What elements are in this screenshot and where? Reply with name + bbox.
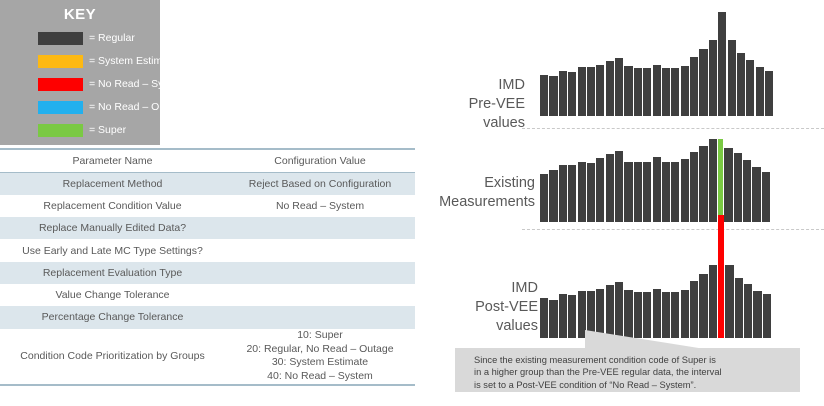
key-swatch-no-read-outage [38,101,83,114]
key-label-regular: = Regular [89,32,135,45]
bar [699,274,707,338]
bar [559,71,567,116]
bar [718,215,724,338]
bar [587,163,595,222]
parameter-table: Parameter Name Configuration Value Repla… [0,148,415,386]
bar [549,300,557,338]
bar [753,291,761,338]
key-label-no-read-outage: = No Read – Outage [89,101,186,114]
bar [728,40,736,116]
bar [744,284,752,338]
chart-pre-vee: IMD Pre-VEE values [430,8,824,130]
column-header-configuration-value: Configuration Value [225,149,415,173]
bar [587,67,595,116]
bar [568,72,576,116]
table-row: Percentage Change Tolerance [0,306,415,328]
key-title: KEY [0,0,160,23]
bar [606,154,614,222]
chart-post-vee: IMD Post-VEE values [430,234,824,344]
cell-configuration-value: No Read – System [225,195,415,217]
table-row: Replacement MethodReject Based on Config… [0,173,415,195]
bar [752,167,760,222]
column-header-parameter-name: Parameter Name [0,149,225,173]
bar [762,172,770,222]
cell-parameter-name: Replacement Method [0,173,225,195]
bar [718,139,723,222]
bar [596,158,604,222]
cell-configuration-value [225,284,415,306]
bar [746,60,754,116]
key-row-system-estimated: = System Estimated [0,52,160,71]
bar [568,295,576,338]
key-row-no-read-outage: = No Read – Outage [0,98,160,117]
bar [540,75,548,116]
bar [735,278,743,338]
bar [615,58,623,116]
bar [690,57,698,116]
bar [634,162,642,222]
bar [709,40,717,116]
baseline-dashed-pre-vee [522,128,824,129]
bar [653,65,661,116]
bar [549,76,557,116]
bar [549,170,557,222]
bar [540,174,548,222]
bar [578,67,586,116]
bar [756,67,764,116]
bar [709,139,717,222]
cell-configuration-value: 10: Super 20: Regular, No Read – Outage … [225,329,415,385]
key-row-super: = Super [0,121,160,140]
bar [615,151,623,222]
slide-root: KEY = Regular= System Estimated= No Read… [0,0,824,406]
bar [724,148,732,222]
bar [699,49,707,116]
table-row: Use Early and Late MC Type Settings? [0,239,415,261]
bar [763,294,771,338]
cell-parameter-name: Percentage Change Tolerance [0,306,225,328]
cell-configuration-value: Reject Based on Configuration [225,173,415,195]
callout-text: Since the existing measurement condition… [455,348,800,391]
key-row-regular: = Regular [0,29,160,48]
bar [624,162,632,222]
chart-existing-measurements: Existing Measurements [430,136,824,232]
cell-configuration-value [225,239,415,261]
cell-parameter-name: Replacement Evaluation Type [0,262,225,284]
cell-configuration-value [225,306,415,328]
bar [690,152,698,222]
table-row: Value Change Tolerance [0,284,415,306]
bar [743,160,751,222]
cell-parameter-name: Condition Code Prioritization by Groups [0,329,225,385]
bar [725,265,733,338]
cell-parameter-name: Use Early and Late MC Type Settings? [0,239,225,261]
bar [653,157,661,222]
bar [606,61,614,116]
cell-configuration-value [225,217,415,239]
cell-parameter-name: Replace Manually Edited Data? [0,217,225,239]
key-row-no-read-system: = No Read – System [0,75,160,94]
key-label-super: = Super [89,124,126,137]
bar [662,162,670,222]
table-row: Replacement Evaluation Type [0,262,415,284]
bar [643,162,651,222]
bar [662,68,670,116]
bars-post-vee [540,234,824,338]
table-header-row: Parameter Name Configuration Value [0,149,415,173]
key-label-system-estimated: = System Estimated [89,55,183,68]
cell-configuration-value [225,262,415,284]
bar [578,162,586,222]
bar [671,68,679,116]
bar [765,71,773,116]
bar [709,265,717,338]
bar [643,68,651,116]
bar [624,66,632,116]
bars-pre-vee [540,8,824,116]
key-swatch-regular [38,32,83,45]
key-swatch-system-estimated [38,55,83,68]
bar [671,162,679,222]
table-body: Replacement MethodReject Based on Config… [0,173,415,385]
callout-pointer [585,330,705,349]
chart-label-existing: Existing Measurements [430,174,535,212]
bar [737,53,745,116]
bar [559,294,567,338]
key-rows: = Regular= System Estimated= No Read – S… [0,29,160,140]
key-swatch-super [38,124,83,137]
table-row: Replacement Condition ValueNo Read – Sys… [0,195,415,217]
table-head: Parameter Name Configuration Value [0,149,415,173]
chart-label-pre-vee: IMD Pre-VEE values [430,76,525,133]
table-row: Replace Manually Edited Data? [0,217,415,239]
bar [699,146,707,222]
bar [681,66,689,116]
bar [559,165,567,222]
bar [596,65,604,116]
callout-box: Since the existing measurement condition… [455,348,800,392]
key-label-no-read-system: = No Read – System [89,78,186,91]
baseline-dashed-existing [522,229,824,230]
key-legend-panel: KEY = Regular= System Estimated= No Read… [0,0,160,145]
cell-parameter-name: Value Change Tolerance [0,284,225,306]
bar [540,298,548,338]
bars-existing [540,136,824,222]
bar [734,153,742,222]
bar [681,159,689,222]
cell-parameter-name: Replacement Condition Value [0,195,225,217]
bar [718,12,726,116]
table-row: Condition Code Prioritization by Groups1… [0,329,415,385]
bar [568,165,576,222]
chart-label-post-vee: IMD Post-VEE values [430,279,538,336]
bar [634,68,642,116]
key-swatch-no-read-system [38,78,83,91]
